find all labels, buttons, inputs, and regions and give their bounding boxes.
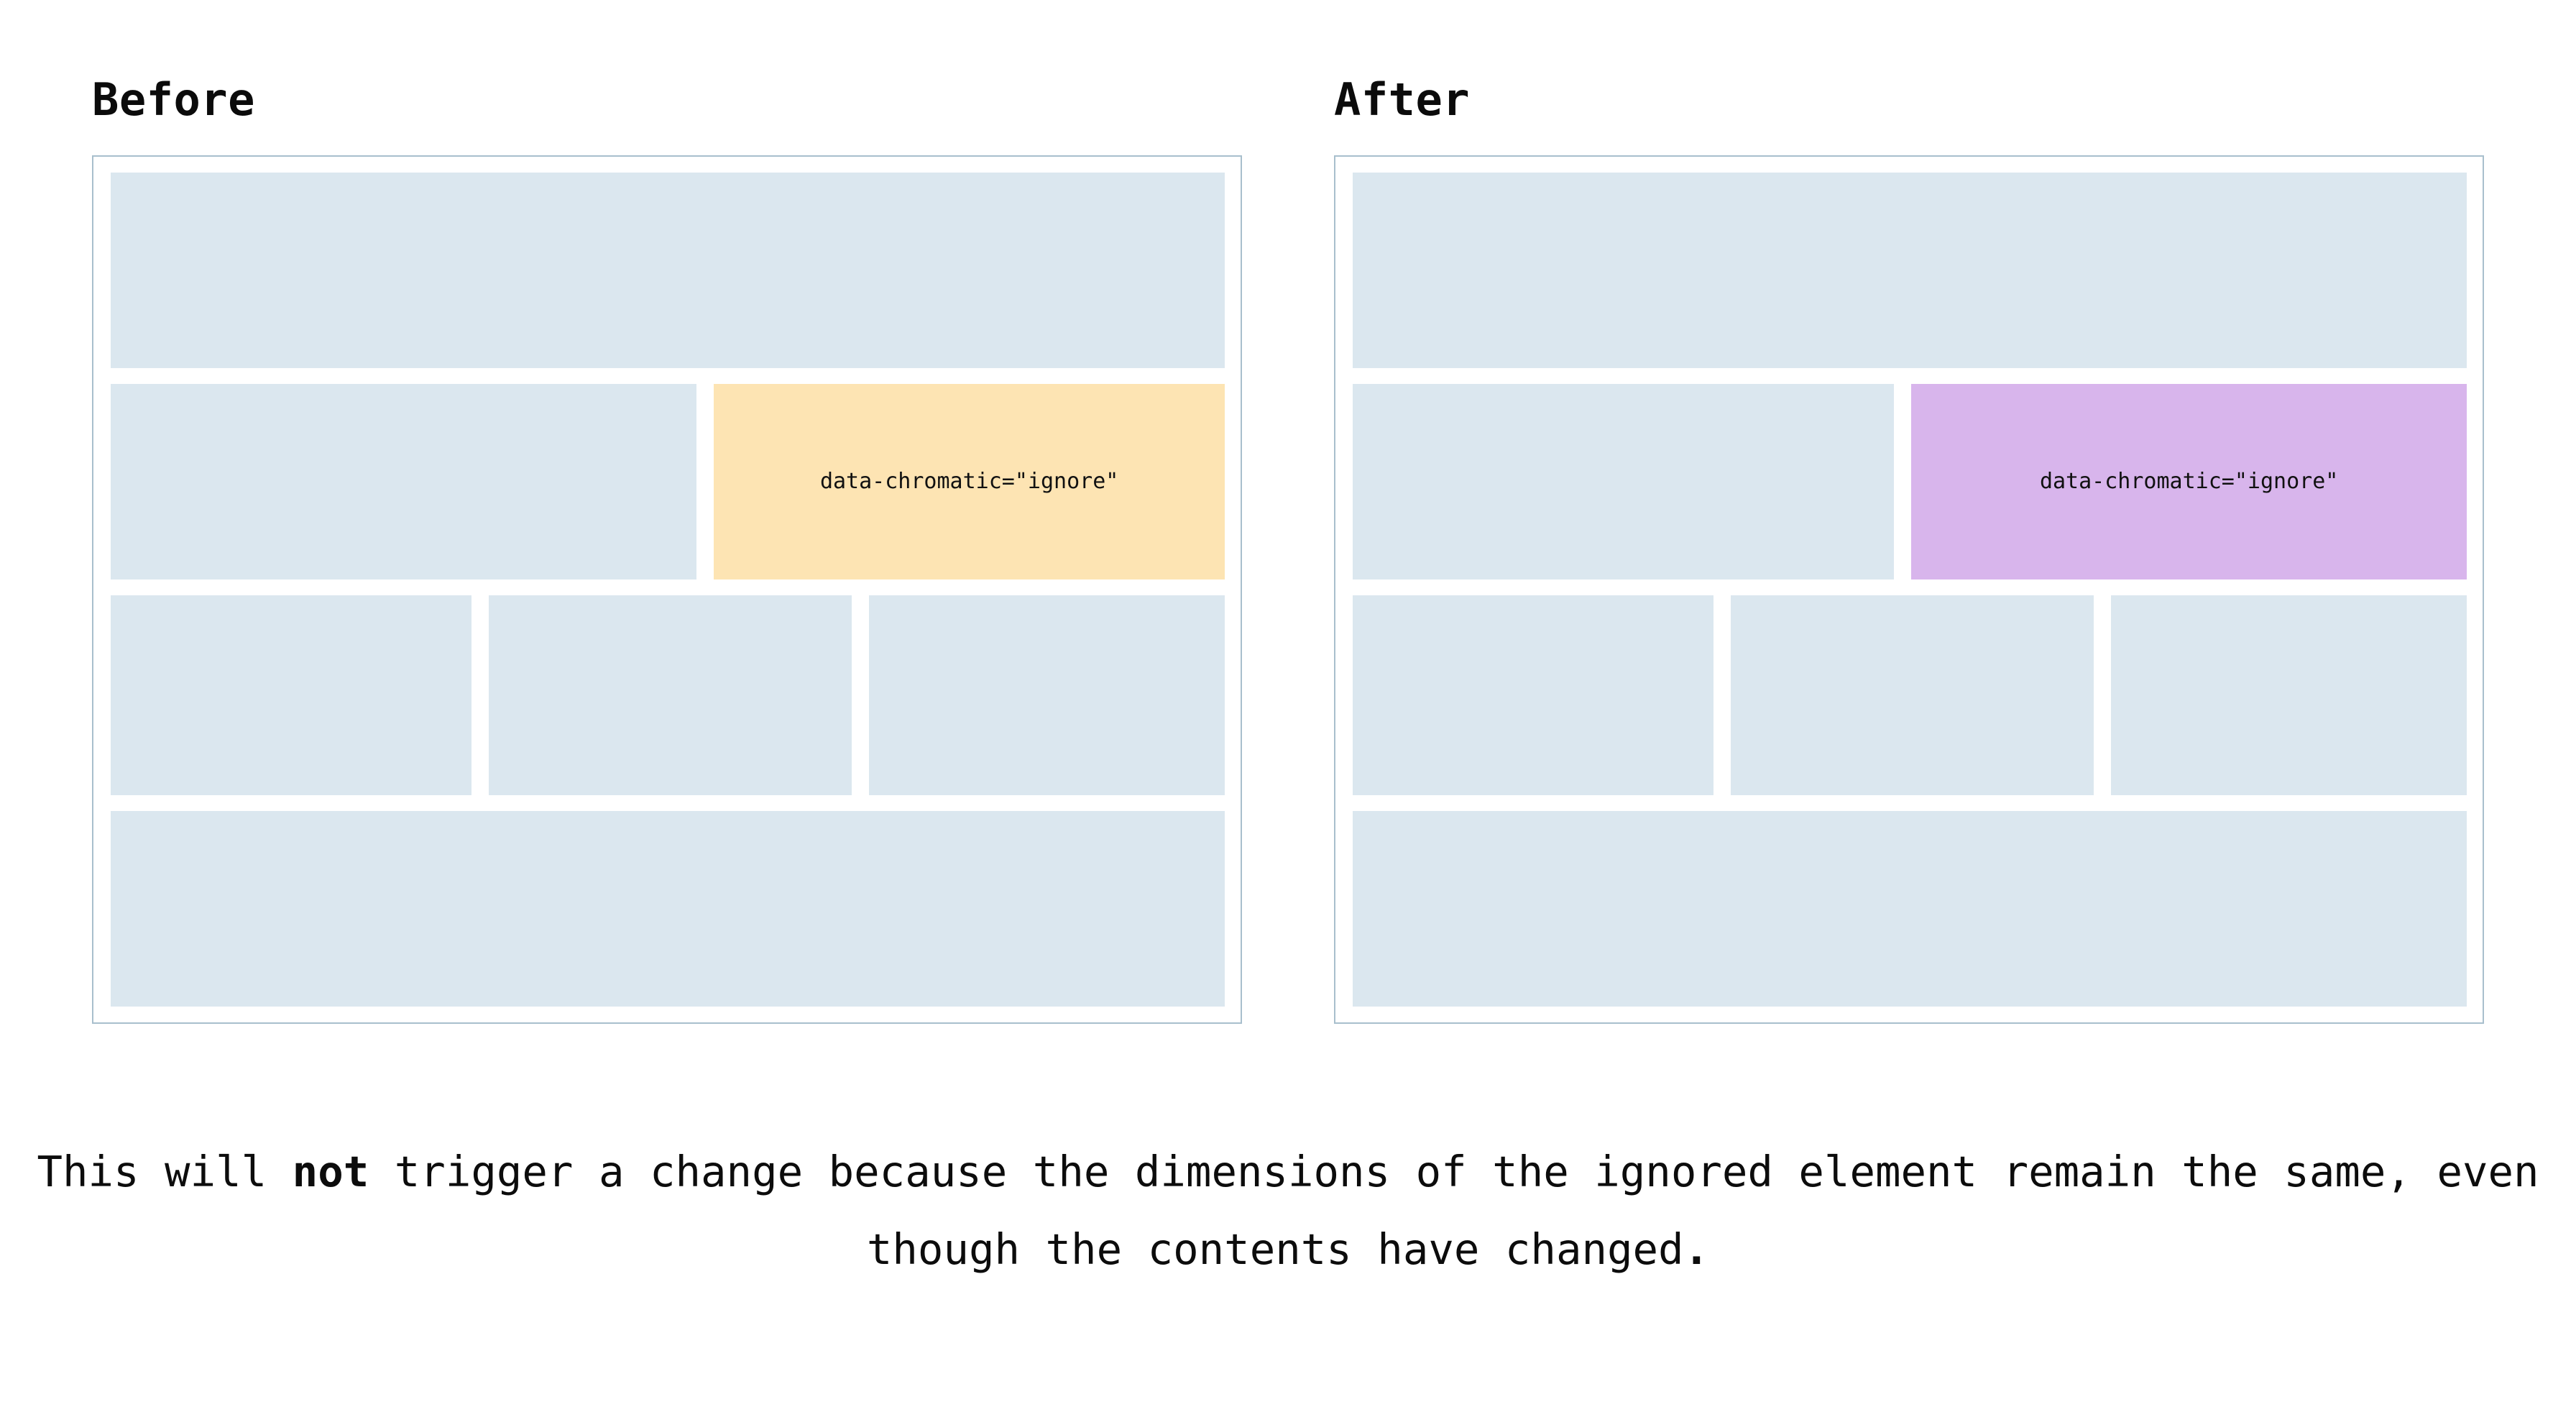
placeholder-block (111, 595, 471, 795)
placeholder-block (1353, 595, 1713, 795)
ignored-element-label: data-chromatic="ignore" (820, 471, 1118, 492)
before-row-split-accent: data-chromatic="ignore" (111, 384, 1225, 579)
before-row-three-columns (111, 595, 1225, 795)
column-gap (2094, 595, 2111, 795)
placeholder-block (1731, 595, 2094, 795)
after-row-full-bottom (1353, 811, 2467, 1007)
figure-caption: This will not trigger a change because t… (0, 1133, 2576, 1288)
placeholder-block (111, 811, 1225, 1007)
placeholder-block (489, 595, 852, 795)
column-gap (696, 384, 714, 579)
panel-after-frame: data-chromatic="ignore" (1334, 155, 2484, 1024)
placeholder-block (869, 595, 1225, 795)
placeholder-block (2111, 595, 2467, 795)
placeholder-block (1353, 384, 1894, 579)
placeholder-block (111, 384, 696, 579)
caption-text-part-1: This will (37, 1147, 292, 1196)
caption-text-period: . (1684, 1224, 1710, 1274)
panels-container: Before data-chromatic="ignore" (0, 0, 2576, 1024)
comparison-figure: Before data-chromatic="ignore" (0, 0, 2576, 1402)
column-gap (1894, 384, 1911, 579)
panel-before-frame: data-chromatic="ignore" (92, 155, 1242, 1024)
panel-after-title: After (1334, 0, 2484, 122)
panel-after: After data-chromatic="ignore" (1334, 0, 2484, 1024)
ignored-element-block: data-chromatic="ignore" (1911, 384, 2467, 579)
after-row-full-top (1353, 173, 2467, 368)
after-row-split-accent: data-chromatic="ignore" (1353, 384, 2467, 579)
ignored-element-label: data-chromatic="ignore" (2040, 471, 2338, 492)
column-gap (852, 595, 869, 795)
ignored-element-block: data-chromatic="ignore" (714, 384, 1225, 579)
caption-text-part-2: trigger a change because the dimensions … (369, 1147, 2539, 1274)
panel-before-title: Before (92, 0, 1242, 122)
panel-before-stack: data-chromatic="ignore" (111, 173, 1225, 1007)
panel-before: Before data-chromatic="ignore" (92, 0, 1242, 1024)
column-gap (1713, 595, 1731, 795)
column-gap (471, 595, 489, 795)
after-row-three-columns (1353, 595, 2467, 795)
panel-after-stack: data-chromatic="ignore" (1353, 173, 2467, 1007)
placeholder-block (1353, 173, 2467, 368)
before-row-full-top (111, 173, 1225, 368)
before-row-full-bottom (111, 811, 1225, 1007)
placeholder-block (111, 173, 1225, 368)
placeholder-block (1353, 811, 2467, 1007)
caption-emphasis-not: not (293, 1147, 369, 1196)
